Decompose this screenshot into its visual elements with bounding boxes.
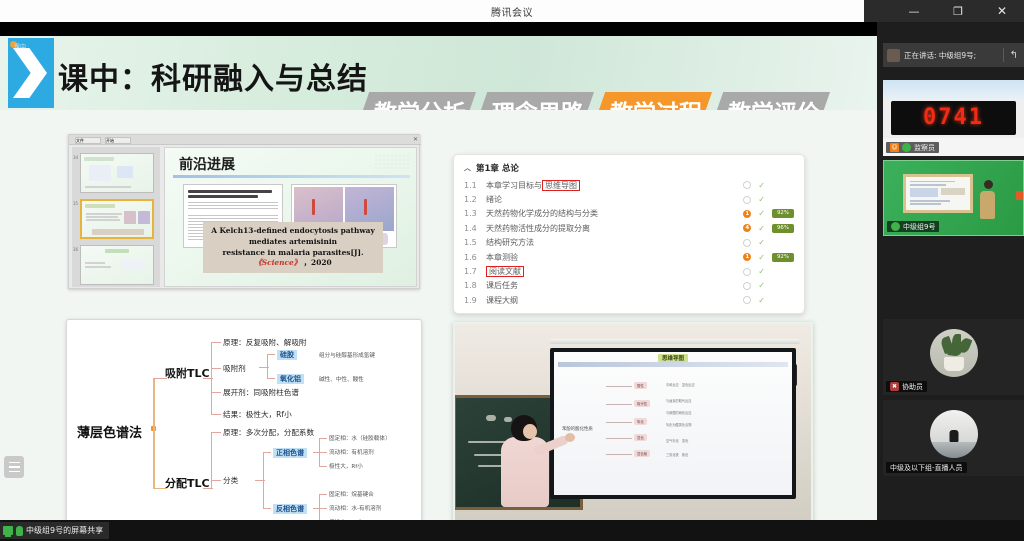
outline-row-number: 1.2 (464, 195, 486, 204)
progress-badge: 92% (772, 253, 794, 262)
active-speaker-label: 正在讲话: 中级组9号; (904, 50, 999, 61)
screen-share-icon (3, 526, 13, 535)
check-icon: ✓ (758, 209, 765, 218)
status-circle-icon (743, 268, 751, 276)
participant-name: 中级及以下组-直播人员 (890, 463, 963, 473)
mindmap-node: 展开剂：同吸附柱色谱 (223, 387, 299, 398)
projected-node: 显色管 (634, 450, 650, 457)
participant-name-chip: 中级组9号 (887, 221, 939, 232)
check-icon: ✓ (758, 195, 765, 204)
mindmap-chip-alumina: 氧化铝 (277, 374, 304, 384)
outline-row-number: 1.7 (464, 267, 486, 276)
course-logo: 课中 (8, 38, 54, 108)
hamburger-icon[interactable] (4, 456, 24, 478)
side-banner (1016, 191, 1023, 200)
tab-teaching-analysis[interactable]: 教学分析 (356, 92, 476, 110)
mindmap-note: 固定相：水（硅胶载体） (329, 434, 391, 442)
outline-row-number: 1.4 (464, 224, 486, 233)
mic-on-icon (891, 222, 900, 231)
shared-screen-area: 课中 课中：科研融入与总结 教学分析 理念思路 教学过程 教学评价 文件 开始 … (0, 22, 877, 520)
outline-row[interactable]: 1.2 绪论 ✓ (464, 192, 794, 206)
projection-screen: 思维导图 苯酚的酸化性质 酸性 取代性 氧化 显色 显色管 中和反应 显色反 (554, 352, 792, 494)
projected-node: 显色 (634, 434, 647, 441)
divider (1003, 48, 1004, 62)
status-circle-icon (743, 239, 751, 247)
check-icon: ✓ (758, 281, 765, 290)
mindmap-node: 结果：极性大，Rf小 (223, 409, 292, 420)
mindmap-note: 极性大，Rf小 (329, 462, 363, 470)
ppt-thumbnail-selected[interactable] (80, 199, 154, 239)
teacher-figure (497, 415, 561, 520)
slide-title: 课中：科研融入与总结 (58, 54, 368, 98)
slide-dot-pattern (374, 154, 410, 170)
status-circle-icon (743, 282, 751, 290)
mindmap-node: 吸附剂 (223, 363, 246, 374)
check-icon: ✓ (758, 267, 765, 276)
outline-row-status: ✓ (743, 264, 794, 278)
ppt-thumbnail[interactable] (80, 153, 154, 193)
avatar (930, 410, 978, 458)
mindmap-note: 碱性、中性、酸性 (319, 375, 364, 383)
taskbar-item-label: 中级组9号的屏幕共享 (26, 525, 103, 536)
participant-name-chip: ☺ 监察员 (886, 142, 939, 153)
projected-node: 氧化 (634, 418, 647, 425)
avatar-icon (887, 49, 900, 62)
ppt-thumbnail-number: 35 (73, 201, 78, 206)
outline-row[interactable]: 1.8 课后任务 ✓ (464, 279, 794, 293)
active-speaker-banner[interactable]: 正在讲话: 中级组9号; ↰ (883, 43, 1024, 67)
ppt-thumbnail-number: 36 (73, 247, 78, 252)
mic-on-icon (902, 143, 911, 152)
ppt-thumbnail-number: 34 (73, 155, 78, 160)
participant-name: 监察员 (914, 143, 935, 153)
outline-row-number: 1.3 (464, 209, 486, 218)
outline-row-status: ✓ (743, 192, 794, 206)
whiteboard (903, 174, 973, 212)
minimize-button[interactable]: — (892, 0, 936, 22)
mindmap-node: 原理：反复吸附、解吸附 (223, 337, 307, 348)
projected-node: 酸性 (634, 382, 647, 389)
check-icon: ✓ (758, 296, 765, 305)
ppt-tab-home[interactable]: 开始 (105, 137, 131, 144)
progress-badge: 92% (772, 209, 794, 218)
unread-count-badge: 1 (743, 253, 751, 261)
outline-row-status: 1 ✓ 92% (743, 207, 794, 221)
outline-row-status: 4 ✓ 96% (743, 221, 794, 235)
mindmap-note: 流动相：有机溶剂 (329, 448, 374, 456)
projection-screen-frame: 思维导图 苯酚的酸化性质 酸性 取代性 氧化 显色 显色管 中和反应 显色反 (550, 348, 796, 498)
course-outline-card: ︿ 第1章 总论 1.1 本章学习目标与思维导图 ✓ 1.2 绪论 (453, 154, 805, 314)
maximize-button[interactable]: ❐ (936, 0, 980, 22)
unread-count-badge: 4 (743, 224, 751, 232)
window-controls: — ❐ ✕ (864, 0, 1024, 22)
ppt-thumbnail[interactable] (80, 245, 154, 285)
projector-rail (550, 339, 800, 344)
outline-row[interactable]: 1.7 阅读文献 ✓ (464, 264, 794, 278)
outline-row-status: ✓ (743, 178, 794, 192)
outline-row-status: ✓ (743, 279, 794, 293)
check-icon: ✓ (758, 224, 765, 233)
outline-chapter-title: 第1章 总论 (476, 162, 519, 174)
outline-row-number: 1.8 (464, 281, 486, 290)
participant-tile-monitor[interactable]: 0741 ☺ 监察员 (883, 80, 1024, 156)
mindmap-note: 固定相：烷基键合 (329, 490, 374, 498)
citation-line-1: A Kelch13-defined endocytosis pathway me… (206, 226, 380, 247)
participant-name: 中级组9号 (903, 222, 935, 232)
check-icon: ✓ (758, 253, 765, 262)
ppt-thumbnail-rail[interactable]: 34 35 (72, 147, 160, 287)
check-icon: ✓ (758, 181, 765, 190)
outline-row-number: 1.6 (464, 253, 486, 262)
participant-name: 协助员 (902, 382, 923, 392)
mindmap-note: 流动相：水-有机溶剂 (329, 504, 381, 512)
logo-label: 课中 (14, 42, 26, 51)
progress-badge: 96% (772, 224, 794, 233)
person-orange-icon: ☺ (890, 143, 899, 152)
projected-node: 取代性 (634, 400, 650, 407)
outline-row[interactable]: 1.9 课程大纲 ✓ (464, 293, 794, 307)
participant-tile-broadcaster[interactable]: 中级及以下组-直播人员 (883, 400, 1024, 476)
mindmap-chip-silica: 硅胶 (277, 350, 297, 360)
status-circle-icon (743, 181, 751, 189)
meeting-window: 腾讯会议 — ❐ ✕ 课中 课中：科研融入与总结 教学分析 理念思路 教学过程 … (0, 0, 1024, 541)
outline-row-number: 1.1 (464, 181, 486, 190)
participant-panel: 正在讲话: 中级组9号; ↰ 0741 ☺ 监察员 (877, 22, 1024, 520)
projected-mindmap-root: 苯酚的酸化性质 (562, 426, 593, 432)
status-circle-icon (743, 296, 751, 304)
window-title: 腾讯会议 (491, 4, 533, 19)
outline-chapter-header[interactable]: ︿ 第1章 总论 (464, 162, 794, 174)
chevron-logo-icon (13, 48, 47, 98)
timer-value: 0741 (923, 105, 984, 130)
unread-count-badge: 1 (743, 210, 751, 218)
status-circle-icon (743, 196, 751, 204)
paper-citation: A Kelch13-defined endocytosis pathway me… (203, 222, 383, 273)
chevron-up-icon[interactable]: ︿ (464, 163, 471, 173)
highlight-box: 阅读文献 (486, 266, 524, 277)
highlight-box: 思维导图 (542, 180, 580, 191)
tile-background (883, 80, 1024, 100)
tab-concept-approach[interactable]: 理念思路 (474, 92, 594, 110)
taskbar: 中级组9号的屏幕共享 (0, 520, 1024, 541)
mindmap-node: 原理：多次分配，分配系数 (223, 427, 314, 438)
outline-row[interactable]: 1.1 本章学习目标与思维导图 ✓ (464, 178, 794, 192)
participant-name-chip: ✖ 协助员 (886, 381, 927, 392)
slide-banner: 课中 课中：科研融入与总结 教学分析 理念思路 教学过程 教学评价 (0, 36, 877, 110)
mindmap-card: 薄层色谱法 吸附TLC 分配TLC 原理：反复吸附、解吸附 吸附剂 展开剂：同吸… (66, 319, 422, 520)
participant-tile-speaker[interactable]: 中级组9号 (883, 160, 1024, 236)
outline-row-number: 1.5 (464, 238, 486, 247)
citation-line-2: resistance in malaria parasites[J]. (222, 248, 363, 257)
outline-row[interactable]: 1.4 天然药物活性成分的提取分离 4 ✓ 96% (464, 221, 794, 235)
countdown-clock: 0741 (891, 101, 1015, 136)
outline-row[interactable]: 1.6 本章测验 1 ✓ 92% (464, 250, 794, 264)
mindmap-node: 分类 (223, 475, 238, 486)
avatar (930, 329, 978, 377)
citation-year: ，2020 (304, 258, 332, 267)
projected-slide-title: 思维导图 (658, 354, 688, 362)
slide-rule (173, 175, 410, 178)
projected-slide-rule (558, 362, 788, 367)
mic-off-red-icon: ✖ (890, 382, 899, 391)
check-icon: ✓ (758, 238, 765, 247)
mindmap-chip-normal-phase: 正相色谱 (273, 448, 307, 458)
ppt-tab-file[interactable]: 文件 (75, 137, 101, 144)
ppt-slide-title: 前沿进展 (179, 154, 235, 174)
ppt-screenshot-panel: 文件 开始 ✕ 34 (68, 134, 420, 289)
tab-teaching-evaluation[interactable]: 教学评价 (710, 92, 830, 110)
classroom-video: 思维导图 苯酚的酸化性质 酸性 取代性 氧化 显色 显色管 中和反应 显色反 (453, 322, 813, 520)
outline-row-number: 1.9 (464, 296, 486, 305)
mindmap-root-node: 薄层色谱法 (77, 422, 142, 441)
taskbar-share-item[interactable]: 中级组9号的屏幕共享 (0, 522, 109, 539)
outline-row-status: ✓ (743, 293, 794, 307)
mic-icon (16, 526, 23, 536)
outline-row-status: ✓ (743, 236, 794, 250)
shared-slide-canvas: 课中 课中：科研融入与总结 教学分析 理念思路 教学过程 教学评价 文件 开始 … (0, 36, 877, 520)
close-button[interactable]: ✕ (980, 0, 1024, 22)
ppt-titlebar: 文件 开始 ✕ (69, 135, 421, 145)
participant-tile-assistant[interactable]: ✖ 协助员 (883, 319, 1024, 395)
outline-row[interactable]: 1.5 结构研究方法 ✓ (464, 236, 794, 250)
outline-row-status: 1 ✓ 92% (743, 250, 794, 264)
slide-tab-bar: 教学分析 理念思路 教学过程 教学评价 (356, 86, 828, 110)
mindmap-chip-reverse-phase: 反相色谱 (273, 504, 307, 514)
participant-name-chip: 中级及以下组-直播人员 (886, 462, 967, 473)
tab-teaching-process[interactable]: 教学过程 (592, 92, 712, 110)
ppt-close-icon[interactable]: ✕ (413, 136, 418, 143)
citation-journal: 《Science》 (254, 258, 301, 267)
mindmap-note: 组分与硅醇基形成氢键 (319, 351, 375, 359)
arrow-left-icon[interactable]: ↰ (1008, 50, 1020, 61)
outline-row[interactable]: 1.3 天然药物化学成分的结构与分类 1 ✓ 92% (464, 207, 794, 221)
ppt-slide-preview: 前沿进展 (164, 147, 417, 287)
